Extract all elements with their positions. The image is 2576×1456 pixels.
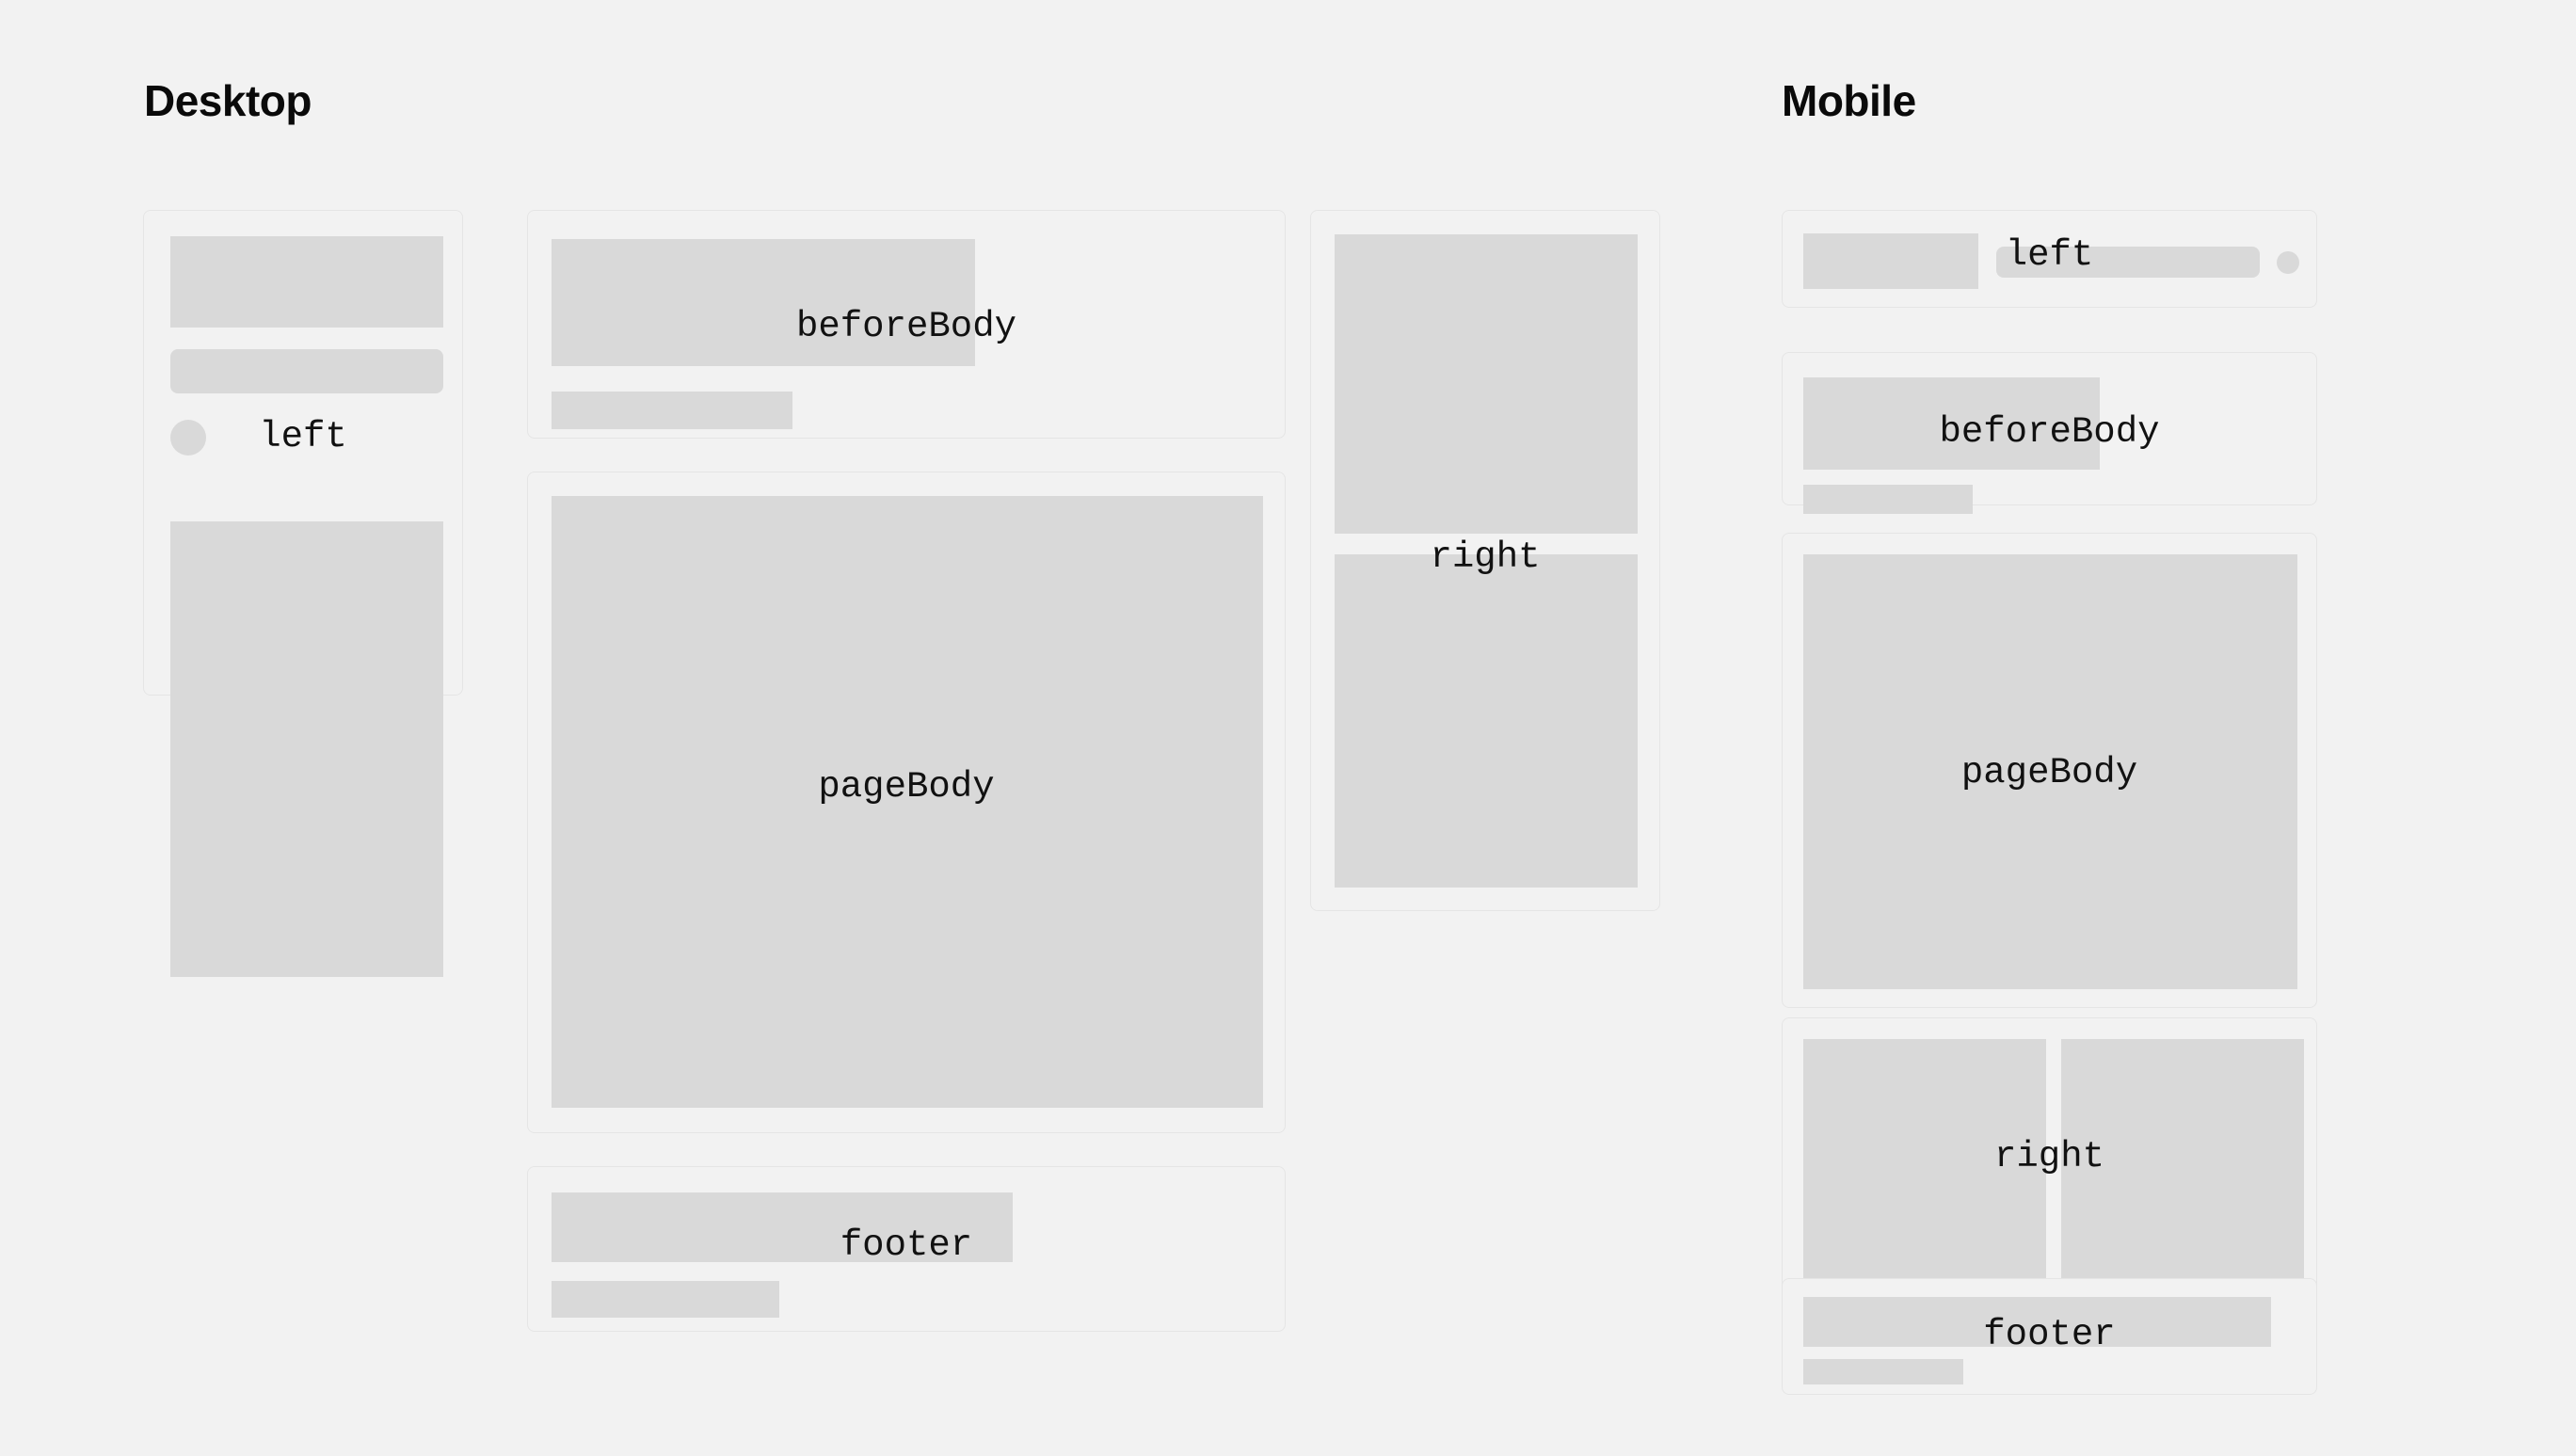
mobile-page-body-block-1 bbox=[1803, 554, 2297, 989]
mobile-left-region-panel[interactable]: left bbox=[1782, 210, 2317, 308]
mobile-footer-block-2 bbox=[1803, 1359, 1963, 1384]
desktop-section-heading: Desktop bbox=[144, 79, 312, 122]
mobile-page-body-region-panel[interactable]: pageBody bbox=[1782, 533, 2317, 1008]
mobile-footer-block-1 bbox=[1803, 1297, 2271, 1347]
desktop-left-block-2 bbox=[170, 349, 443, 393]
desktop-left-region-panel[interactable]: left bbox=[143, 210, 463, 696]
mobile-right-region-panel[interactable]: right bbox=[1782, 1017, 2317, 1311]
desktop-right-region-panel[interactable]: right bbox=[1310, 210, 1660, 911]
mobile-footer-region-panel[interactable]: footer bbox=[1782, 1278, 2317, 1395]
desktop-left-block-4 bbox=[170, 521, 443, 977]
layout-preview-canvas: Desktop left beforeBody pageBody footer … bbox=[0, 0, 2576, 1456]
desktop-right-block-2 bbox=[1335, 554, 1638, 888]
mobile-right-block-2 bbox=[2061, 1039, 2304, 1291]
mobile-section-heading: Mobile bbox=[1782, 79, 1916, 122]
mobile-before-body-block-2 bbox=[1803, 485, 1973, 514]
desktop-before-body-block-2 bbox=[552, 392, 792, 429]
desktop-footer-region-panel[interactable]: footer bbox=[527, 1166, 1286, 1332]
desktop-left-block-1 bbox=[170, 236, 443, 328]
mobile-left-block-1 bbox=[1803, 233, 1978, 289]
desktop-before-body-block-1 bbox=[552, 239, 975, 366]
desktop-page-body-region-panel[interactable]: pageBody bbox=[527, 472, 1286, 1133]
desktop-before-body-region-panel[interactable]: beforeBody bbox=[527, 210, 1286, 439]
mobile-left-avatar-circle bbox=[2277, 251, 2299, 274]
desktop-page-body-block-1 bbox=[552, 496, 1263, 1108]
desktop-footer-block-1 bbox=[552, 1192, 1013, 1262]
mobile-before-body-region-panel[interactable]: beforeBody bbox=[1782, 352, 2317, 505]
mobile-before-body-block-1 bbox=[1803, 377, 2100, 470]
desktop-right-block-1 bbox=[1335, 234, 1638, 534]
mobile-left-block-2 bbox=[1996, 247, 2260, 278]
desktop-left-avatar-circle bbox=[170, 420, 206, 456]
mobile-right-block-1 bbox=[1803, 1039, 2046, 1291]
desktop-footer-block-2 bbox=[552, 1281, 779, 1318]
